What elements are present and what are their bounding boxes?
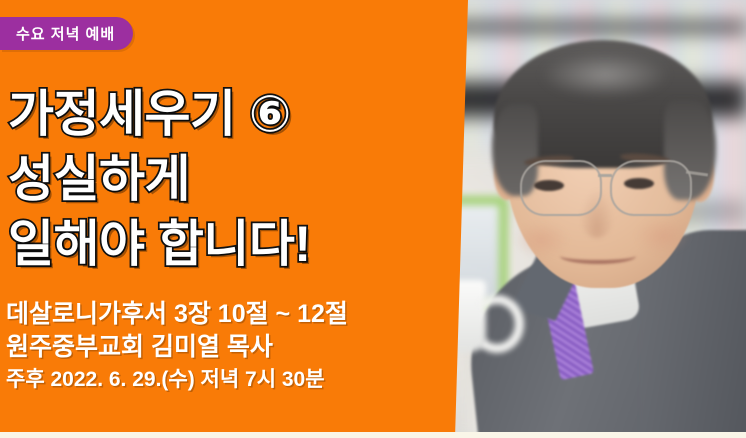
service-announcement-banner: 수요 저녁 예배 가정세우기 ⑥ 성실하게 일해야 합니다! 데살로니가후서 3… bbox=[0, 0, 746, 438]
sermon-title-line-3: 일해야 합니다! bbox=[8, 212, 438, 277]
sermon-title-line-1: 가정세우기 ⑥ bbox=[8, 82, 438, 147]
service-datetime: 주후 2022. 6. 29.(수) 저녁 7시 30분 bbox=[6, 364, 456, 396]
bottom-accent-strip bbox=[0, 432, 746, 438]
church-and-speaker: 원주중부교회 김미열 목사 bbox=[6, 331, 456, 364]
service-type-badge: 수요 저녁 예배 bbox=[0, 17, 133, 50]
hair-highlight bbox=[540, 52, 670, 98]
lens-right bbox=[610, 160, 692, 216]
eyeglasses bbox=[498, 160, 706, 218]
sermon-details: 데살로니가후서 3장 10절 ~ 12절 원주중부교회 김미열 목사 주후 20… bbox=[6, 298, 456, 396]
lens-left bbox=[520, 160, 602, 216]
service-type-label: 수요 저녁 예배 bbox=[16, 23, 115, 44]
sermon-title-line-2: 성실하게 bbox=[8, 147, 438, 212]
mouth bbox=[560, 248, 636, 264]
cheek-right bbox=[636, 218, 690, 254]
mug-handle bbox=[470, 295, 524, 353]
scripture-reference: 데살로니가후서 3장 10절 ~ 12절 bbox=[6, 298, 456, 331]
glasses-bridge bbox=[598, 174, 612, 177]
sermon-title: 가정세우기 ⑥ 성실하게 일해야 합니다! bbox=[8, 82, 438, 277]
